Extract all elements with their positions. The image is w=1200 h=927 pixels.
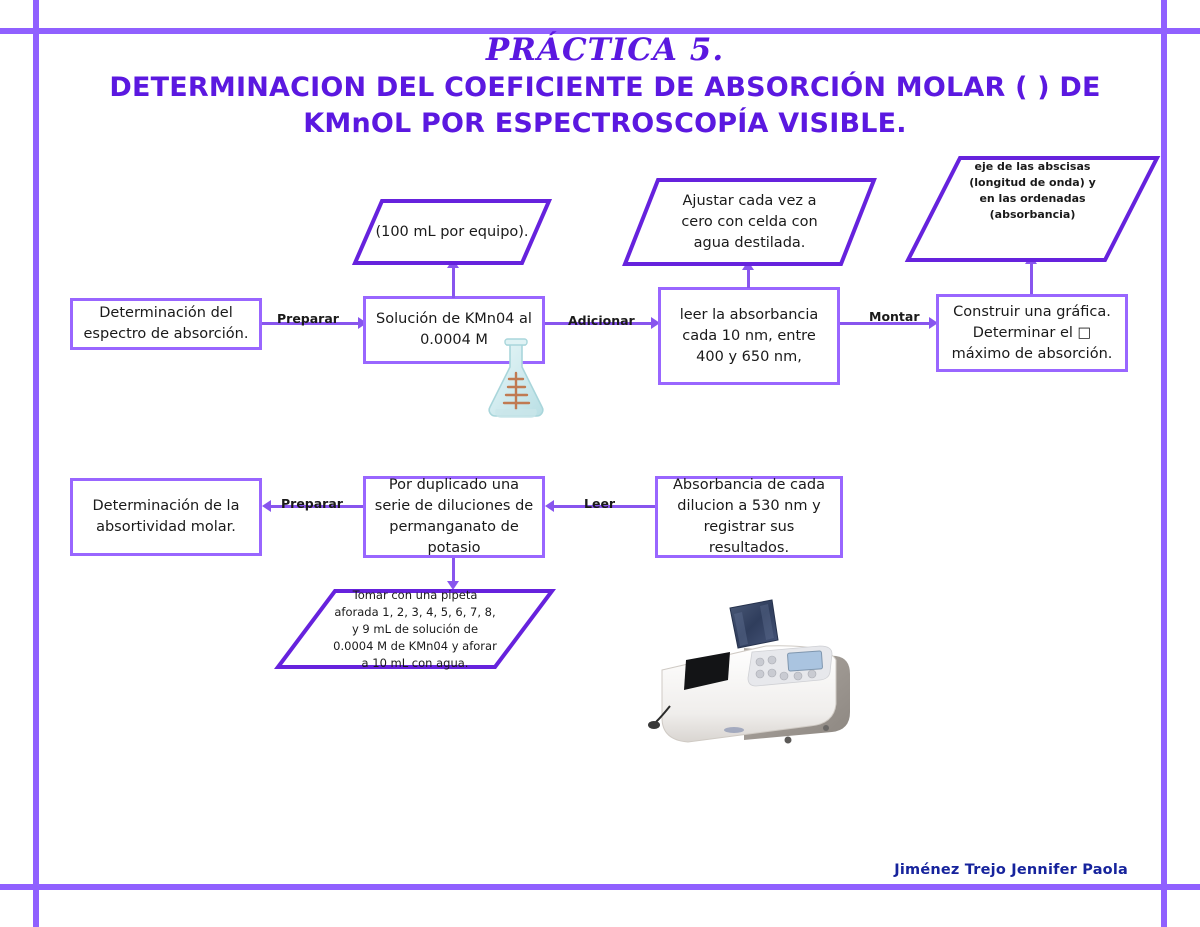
node-text: eje de las abscisas (longitud de onda) y… [905,155,1160,263]
frame-line-left [33,0,39,927]
node-construir-grafica: Construir una gráfica. Determinar el □ m… [936,294,1128,372]
edge-label-preparar-1: Preparar [277,311,339,326]
frame-line-right [1161,0,1167,927]
node-determinacion-absortividad: Determinación de la absortividad molar. [70,478,262,556]
edge-label-adicionar: Adicionar [568,313,635,328]
node-text: Construir una gráfica. Determinar el □ m… [945,302,1119,365]
node-text: (100 mL por equipo). [352,198,552,266]
node-text: Determinación de la absortividad molar. [79,496,253,538]
node-text: Absorbancia de cada dilucion a 530 nm y … [664,475,834,559]
node-text: leer la absorbancia cada 10 nm, entre 40… [667,305,831,368]
node-100ml-por-equipo: (100 mL por equipo). [352,198,552,266]
node-determinacion-espectro: Determinación del espectro de absorción. [70,298,262,350]
poster-title: PRÁCTICA 5. DETERMINACION DEL COEFICIENT… [60,30,1150,142]
node-diluciones-permanganato: Por duplicado una serie de diluciones de… [363,476,545,558]
node-text: Por duplicado una serie de diluciones de… [372,475,536,559]
node-tomar-pipeta-aforada: Tomar con una pipeta aforada 1, 2, 3, 4,… [275,588,555,670]
node-absorbancia-dilucion: Absorbancia de cada dilucion a 530 nm y … [655,476,843,558]
edge-label-leer: Leer [584,496,615,511]
node-text: Ajustar cada vez a cero con celda con ag… [622,177,877,267]
author-signature: Jiménez Trejo Jennifer Paola [894,862,1128,878]
node-text: Determinación del espectro de absorción. [79,303,253,345]
connector-n4-n5 [747,268,750,288]
node-ejes-abscisas-ordenadas: eje de las abscisas (longitud de onda) y… [905,155,1160,263]
arrowhead-n10-n9 [545,500,554,512]
edge-label-preparar-2: Preparar [281,496,343,511]
poster-page: PRÁCTICA 5. DETERMINACION DEL COEFICIENT… [0,0,1200,927]
title-line-practice: PRÁCTICA 5. [60,30,1150,70]
connector-n6-n7 [1030,262,1033,294]
edge-label-montar: Montar [869,309,920,324]
erlenmeyer-flask-icon [480,337,552,419]
node-ajustar-cero-celda: Ajustar cada vez a cero con celda con ag… [622,177,877,267]
node-text: Tomar con una pipeta aforada 1, 2, 3, 4,… [275,588,555,670]
connector-n2-n3 [452,266,455,298]
arrowhead-n9-n8 [262,500,271,512]
node-leer-absorbancia: leer la absorbancia cada 10 nm, entre 40… [658,287,840,385]
spectrophotometer-icon [648,594,858,754]
frame-line-bottom [0,884,1200,890]
title-line-subject: DETERMINACION DEL COEFICIENTE DE ABSORCI… [60,70,1150,142]
